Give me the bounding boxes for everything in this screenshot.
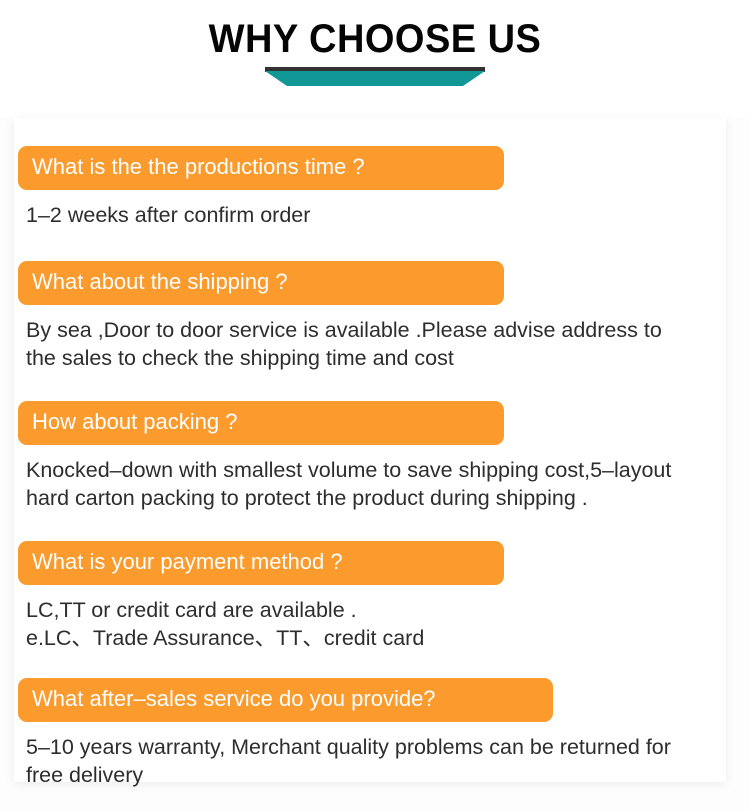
faq-item: What is your payment method ? LC,TT or c… (14, 541, 726, 652)
faq-item: How about packing ? Knocked–down with sm… (14, 401, 726, 512)
faq-question-payment-method[interactable]: What is your payment method ? (18, 541, 504, 585)
faq-item: What is the the productions time ? 1–2 w… (14, 146, 726, 229)
faq-question-production-time[interactable]: What is the the productions time ? (18, 146, 504, 190)
page-header: WHY CHOOSE US (0, 0, 750, 118)
faq-answer-shipping: By sea ,Door to door service is availabl… (26, 316, 726, 372)
faq-question-packing[interactable]: How about packing ? (18, 401, 504, 445)
faq-item: What about the shipping ? By sea ,Door t… (14, 261, 726, 372)
spacer (14, 382, 726, 401)
faq-answer-packing: Knocked–down with smallest volume to sav… (26, 456, 726, 512)
page-title: WHY CHOOSE US (19, 16, 732, 62)
faq-question-after-sales-service[interactable]: What after–sales service do you provide? (18, 678, 553, 722)
faq-answer-payment-method: LC,TT or credit card are available . e.L… (26, 596, 726, 652)
faq-answer-production-time: 1–2 weeks after confirm order (26, 201, 726, 229)
faq-card: What is the the productions time ? 1–2 w… (14, 118, 726, 782)
faq-item: What after–sales service do you provide?… (14, 678, 726, 789)
spacer (14, 662, 726, 678)
underline-trapezoid-icon (265, 71, 485, 86)
faq-page: WHY CHOOSE US What is the the production… (0, 0, 750, 810)
spacer (14, 522, 726, 541)
title-underline-decoration (265, 67, 485, 89)
faq-question-shipping[interactable]: What about the shipping ? (18, 261, 504, 305)
spacer (14, 239, 726, 261)
faq-answer-after-sales-service: 5–10 years warranty, Merchant quality pr… (26, 733, 726, 789)
faq-list: What is the the productions time ? 1–2 w… (14, 146, 726, 789)
